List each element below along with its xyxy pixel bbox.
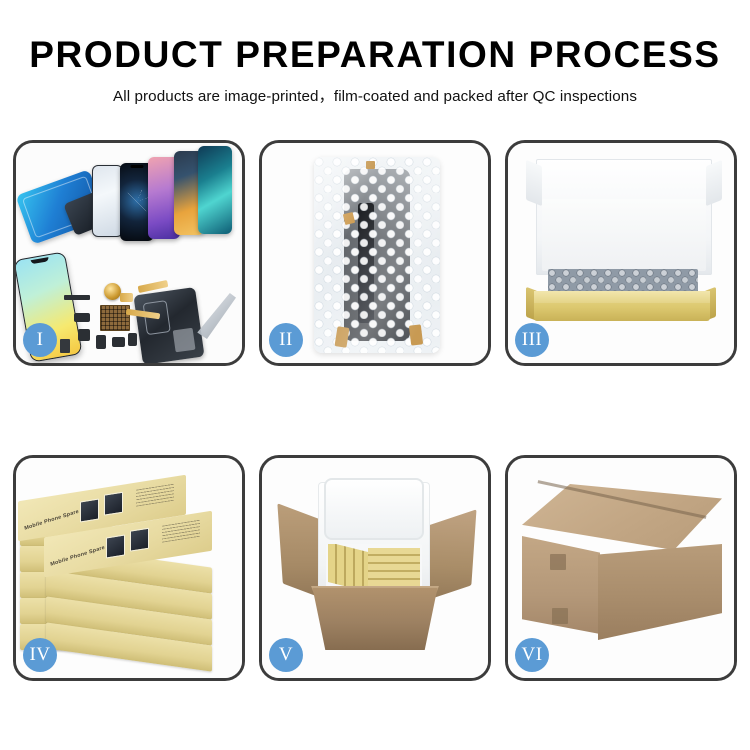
process-step-card-6: VI (505, 455, 737, 681)
carton-tape-upper (550, 554, 566, 570)
sim-tray-part (60, 339, 70, 353)
small-part-e (128, 333, 137, 346)
process-step-card-5: V (259, 455, 491, 681)
step-badge-3: III (515, 323, 549, 357)
step-badge-4: IV (23, 638, 57, 672)
small-part-c (96, 335, 106, 349)
process-steps-grid: I II (13, 140, 737, 685)
gold-coil-part (104, 283, 121, 300)
box-label-lines-2 (162, 519, 200, 543)
speaker-bar-part (64, 295, 90, 300)
plastic-gloss (314, 157, 440, 353)
bubble-wrap-bag (314, 157, 440, 353)
box-label-swatch-1b (104, 492, 123, 516)
phone-back-housing (133, 287, 204, 363)
page-title: PRODUCT PREPARATION PROCESS (0, 36, 750, 75)
process-step-card-2: II (259, 140, 491, 366)
process-step-card-4: Mobile Phone Spare Parts Mobile Phone Sp… (13, 455, 245, 681)
product-preparation-page: PRODUCT PREPARATION PROCESS All products… (0, 0, 750, 750)
page-subtitle: All products are image-printed，film-coat… (0, 84, 750, 106)
header: PRODUCT PREPARATION PROCESS All products… (0, 36, 750, 106)
step-badge-5: V (269, 638, 303, 672)
small-part-d (112, 337, 125, 347)
carton-body (304, 588, 446, 650)
inner-boxes-group (326, 544, 422, 590)
step-badge-6: VI (515, 638, 549, 672)
foam-lid-open (324, 478, 424, 540)
phone-teal-gradient (198, 146, 232, 234)
box-label-swatch-2b (130, 528, 149, 552)
carton-tape-lower (552, 608, 568, 624)
step-badge-1: I (23, 323, 57, 357)
box-tray-front-edge (534, 291, 710, 303)
chip-grid-part (100, 305, 130, 331)
connector-part (120, 293, 133, 302)
process-step-card-3: III (505, 140, 737, 366)
small-part-b (78, 329, 90, 341)
carton-front-face (598, 544, 722, 640)
phone-notch (131, 165, 144, 168)
inner-boxes-right (368, 548, 420, 586)
tempered-glass-panel (92, 165, 123, 237)
phone-notch-large (31, 257, 49, 264)
box-label-lines-1 (136, 483, 174, 507)
carton-top-face (522, 484, 722, 550)
box-label-swatch-2a (106, 534, 125, 558)
foam-sheet (542, 199, 706, 271)
process-step-card-1: I (13, 140, 245, 366)
inner-boxes-left (328, 544, 368, 590)
small-part-a (74, 313, 90, 322)
wallpaper-pattern (124, 189, 150, 215)
box-label-swatch-1a (80, 498, 99, 522)
step-badge-2: II (269, 323, 303, 357)
